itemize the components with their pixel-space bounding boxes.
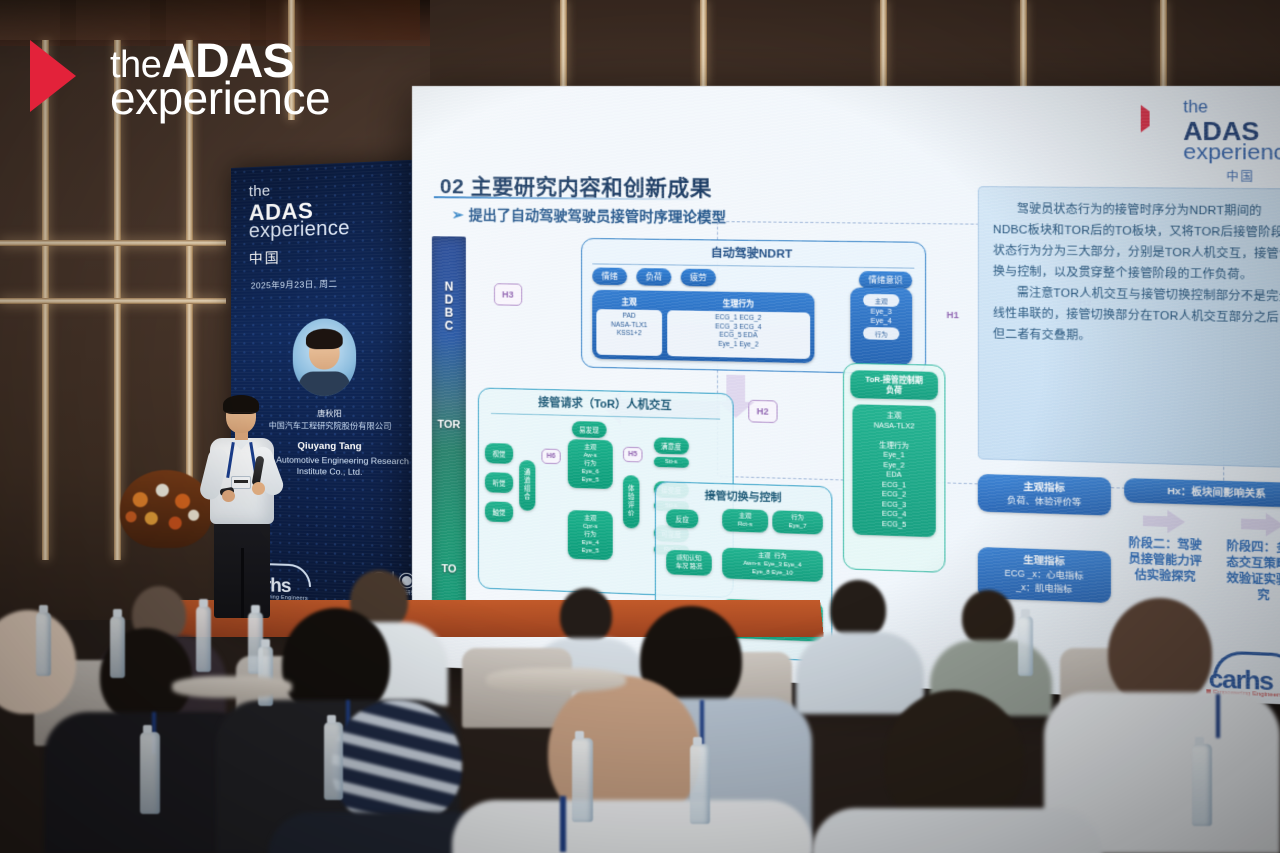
ndrt-subjective-head: 主观 <box>596 294 662 310</box>
screen-logo-country: 中国 <box>1183 167 1280 185</box>
tor-metric-satisfaction: 满意度 Sti-s <box>654 437 689 468</box>
phase-label-to: TO <box>432 563 466 576</box>
attendee-head <box>962 590 1014 646</box>
stage-arrow-icon-4 <box>1241 512 1280 537</box>
banner-logo-experience: experience <box>249 215 413 244</box>
slide-subtitle: ➢提出了自动驾驶驾驶员接管时序理论模型 <box>452 204 726 227</box>
ndrt-eye3-label: Eye_3 <box>855 308 908 316</box>
sc-perception-chip: 感知认知车况 路况 <box>666 550 712 576</box>
watermark-experience: experience <box>110 71 330 125</box>
screen-logo: the ADAS experience 中国 <box>1183 99 1280 186</box>
ndrt-metrics-panel: 主观 PAD NASA-TLX1 KSS1+2 生理行为 ECG_1 ECG_2… <box>592 290 814 363</box>
legend-stage-2: 阶段二：驾驶员接管能力评估实验探究 <box>1124 536 1206 586</box>
water-bottle <box>110 616 125 678</box>
adas-chevron-icon <box>30 40 76 112</box>
ndrt-eye4-label: Eye_4 <box>855 318 908 326</box>
legend-area: 主观指标 负荷、体验评价等 生理指标 ECG _x：心电指标 _x：肌电指标 H… <box>978 474 1280 610</box>
phase-label-ndbc: NDBC <box>432 280 466 333</box>
tor-channel-audio: 听觉 <box>485 472 513 493</box>
tor-channel-visual: 视觉 <box>485 443 513 464</box>
speaker-glasses <box>227 412 255 417</box>
screen-logo-the: the <box>1183 99 1280 118</box>
ndrt-pill-load: 负荷 <box>636 268 671 286</box>
wall-trim-pillar <box>880 0 887 90</box>
ndrt-pill-row: 情绪 负荷 疲劳 <box>592 267 716 286</box>
stage-arrow-icon-2 <box>1143 509 1187 534</box>
attendee-body <box>796 632 924 714</box>
tor-channel-haptic: 触觉 <box>485 501 513 522</box>
attendee-lanyard <box>560 796 566 852</box>
phase-label-tor: TOR <box>432 419 466 432</box>
wall-trim-pillar <box>1020 0 1027 96</box>
water-bottle <box>1192 744 1212 826</box>
tor-hmi-title: 接管请求（ToR）人机交互 <box>479 389 733 415</box>
slide-section-number: 02 <box>440 175 464 198</box>
ndrt-card-title: 自动驾驶NDRT <box>582 239 925 264</box>
conference-photo: the ADAS experience 中国 2025年9月23日, 周二 唐秋… <box>0 0 1280 853</box>
water-bottle <box>324 722 343 800</box>
screen-logo-experience: experience <box>1183 140 1280 166</box>
attendee-head-striped-cap <box>332 700 462 828</box>
banner-logo-country: 中国 <box>249 244 413 269</box>
tor-workload-header: ToR-接管控制期 负荷 <box>850 370 938 400</box>
attendee-head <box>830 580 886 640</box>
marker-h5: H5 <box>623 447 642 463</box>
bullet-chevron-icon: ➢ <box>452 206 464 222</box>
attendee-body <box>452 800 812 853</box>
legend-stage-4: 阶段四：多模态交互策略增效验证实验探究 <box>1222 539 1280 606</box>
tor-experience-eval: 体验评价 <box>623 475 639 528</box>
ndrt-pill-fatigue: 疲劳 <box>681 269 716 287</box>
ndrt-card: 自动驾驶NDRT 情绪 负荷 疲劳 情绪意识 主观 PAD NASA-TLX1 … <box>581 238 926 375</box>
banquet-table <box>486 668 626 692</box>
ndrt-subjective-items: PAD NASA-TLX1 KSS1+2 <box>596 309 662 356</box>
marker-h6: H6 <box>541 449 560 465</box>
banner-date: 2025年9月23日, 周二 <box>251 278 338 292</box>
explanation-paragraph-2: 需注意TOR人机交互与接管切换控制部分不是完全线性串联的，接管切换部分在TOR人… <box>993 282 1280 350</box>
slide-subtitle-text: 提出了自动驾驶驾驶员接管时序理论模型 <box>469 207 726 226</box>
ndrt-pill-emotion: 情绪 <box>592 267 627 285</box>
ndrt-pill-emotion-awareness: 情绪意识 <box>859 271 912 289</box>
tor-workload-card: ToR-接管控制期 负荷 主观 NASA-TLX2 生理行为 Eye_1 Eye… <box>843 363 945 573</box>
explanation-paragraph-1: 驾驶员状态行为的接管时序分为NDRT期间的NDBC板块和TOR后的TO板块，又将… <box>993 199 1280 287</box>
ndrt-emotion-pill-wrap: 情绪意识 <box>859 269 912 289</box>
sc-reaction-chip: 反应 <box>666 509 698 528</box>
water-bottle <box>140 732 160 814</box>
marker-h3: H3 <box>494 283 522 306</box>
water-bottle <box>690 744 710 824</box>
attendee-body <box>812 808 1102 853</box>
banner-logo: the ADAS experience 中国 <box>249 176 413 268</box>
ndrt-emotion-chip-top: 主观 <box>863 294 899 307</box>
phase-timeline-strip: NDBC TOR TO <box>432 236 466 618</box>
water-bottle <box>196 606 211 672</box>
water-bottle <box>572 738 593 822</box>
speaker-hand-left <box>222 490 235 502</box>
speaker-portrait <box>293 318 356 396</box>
explanation-panel: 驾驶员状态行为的接管时序分为NDRT期间的NDBC板块和TOR后的TO板块，又将… <box>978 186 1280 468</box>
ndrt-emotion-chip-bottom: 行为 <box>863 327 899 340</box>
water-bottle <box>1018 616 1033 676</box>
ndrt-physio-items: ECG_1 ECG_2 ECG_3 ECG_4 ECG_5 EDA Eye_1 … <box>667 310 810 359</box>
tor-branch-b: 主观Cpr-s 行为Eye_4 Eye_5 <box>568 510 613 560</box>
sc-row1-subjective: 主观Rct-s <box>722 509 768 533</box>
sc-row1-behavior: 行为Eye_7 <box>772 510 823 534</box>
speaker-badge <box>231 476 251 489</box>
tor-branch-a: 主观Aw-s 行为Eye_6 Eye_5 <box>568 439 613 489</box>
tor-channel-combo: 通道组合 <box>519 460 535 511</box>
banquet-table <box>172 676 292 698</box>
tor-discoverability-chip: 易发现 <box>572 421 606 438</box>
switch-control-title: 接管切换与控制 <box>656 482 831 507</box>
watermark-text: theADAS experience <box>110 34 330 125</box>
sc-row2: 主观 行为 Awn-s Eye_3 Eye_4 Eye_8 Eye_10 <box>722 548 823 582</box>
legend-subjective-chip: 主观指标 负荷、体验评价等 <box>978 474 1111 516</box>
marker-h1: H1 <box>939 304 966 325</box>
water-bottle <box>36 612 51 676</box>
wall-trim-pillar <box>700 0 707 86</box>
wall-trim-pillar <box>560 0 567 86</box>
tor-workload-metrics: 主观 NASA-TLX2 生理行为 Eye_1 Eye_2 EDA ECG_1 … <box>853 404 936 537</box>
speaker-hand-right <box>252 482 265 495</box>
adas-arrow-cut-icon <box>1150 105 1169 133</box>
ndrt-emotion-panel: 主观 Eye_3 Eye_4 行为 <box>850 287 912 365</box>
attendee-lanyard <box>1216 694 1220 738</box>
attendee-head <box>560 588 612 644</box>
speaker-presenter <box>196 398 288 620</box>
